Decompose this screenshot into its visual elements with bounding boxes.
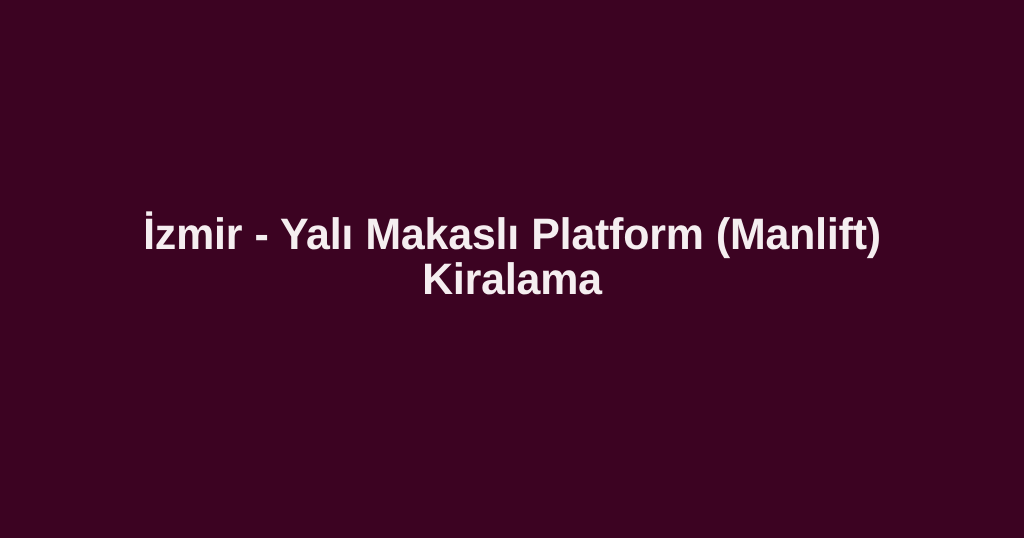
- social-preview-card: İzmir - Yalı Makaslı Platform (Manlift) …: [0, 0, 1024, 538]
- headline-container: İzmir - Yalı Makaslı Platform (Manlift) …: [72, 212, 952, 302]
- page-title: İzmir - Yalı Makaslı Platform (Manlift) …: [83, 212, 941, 302]
